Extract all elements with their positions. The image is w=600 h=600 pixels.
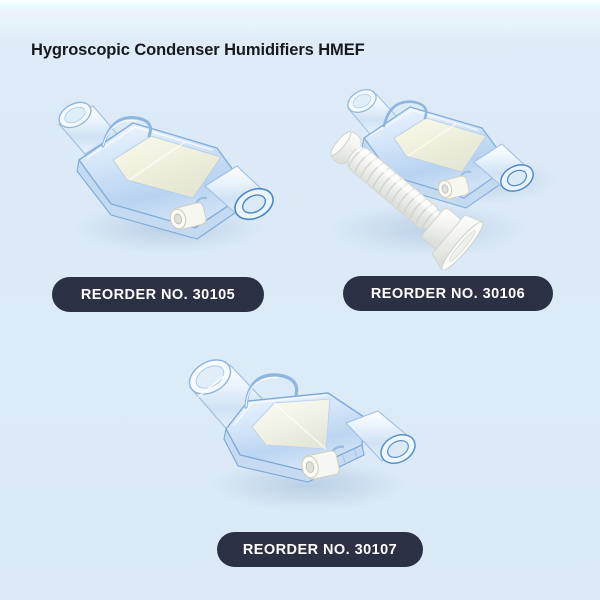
page-title: Hygroscopic Condenser Humidifiers HMEF (31, 41, 365, 60)
reorder-badge-30107[interactable]: REORDER NO. 30107 (217, 532, 423, 567)
product-image-30105 (45, 88, 285, 268)
reorder-badge-30106[interactable]: REORDER NO. 30106 (343, 276, 553, 311)
reorder-badge-30105[interactable]: REORDER NO. 30105 (52, 277, 264, 312)
product-catalog-page: Hygroscopic Condenser Humidifiers HMEF (0, 0, 600, 600)
product-image-30106 (308, 80, 558, 270)
hmef-filter-unit (344, 85, 537, 208)
product-image-30107 (178, 345, 433, 525)
